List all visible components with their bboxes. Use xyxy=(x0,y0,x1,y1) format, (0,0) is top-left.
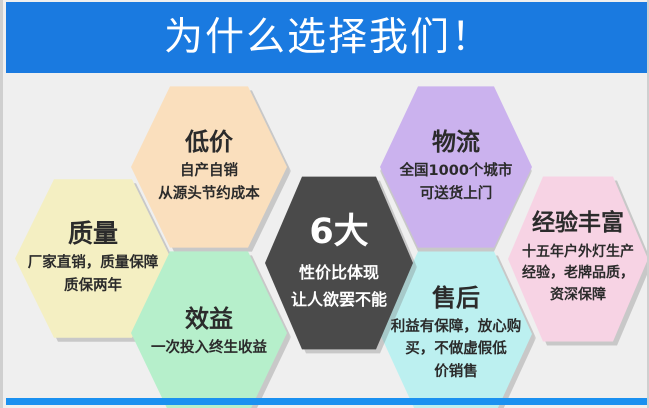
promo-graphic: 为什么选择我们！ 质量 厂家直销，质量保障 质保两年 低价 自产自销 从源头节约… xyxy=(0,0,649,408)
hexagon-grid: 质量 厂家直销，质量保障 质保两年 低价 自产自销 从源头节约成本 效益 一次投… xyxy=(3,73,649,398)
hexagon-logistics-body: 全国1000个城市 可送货上门 xyxy=(400,160,513,205)
hexagon-logistics: 物流 全国1000个城市 可送货上门 xyxy=(380,83,532,251)
hexagon-experience-body: 十五年户外灯生产 经验，老牌品质， 资深保障 xyxy=(522,242,634,307)
hexagon-low-price-body: 自产自销 从源头节约成本 xyxy=(158,160,260,205)
hexagon-quality-title: 质量 xyxy=(68,220,118,248)
hexagon-after-sale-body: 利益有保障，放心购 买，不做虚假低 价销售 xyxy=(391,316,522,383)
hexagon-quality-body: 厂家直销，质量保障 质保两年 xyxy=(28,252,159,297)
header-banner: 为什么选择我们！ xyxy=(6,2,649,73)
hexagon-benefit-title: 效益 xyxy=(185,306,233,332)
hexagon-logistics-title: 物流 xyxy=(432,129,480,155)
page-title: 为什么选择我们！ xyxy=(164,18,492,57)
footer-bar xyxy=(6,398,649,405)
hexagon-after-sale-title: 售后 xyxy=(432,285,480,311)
hexagon-center-body: 性价比体现 让人欲罢不能 xyxy=(291,259,387,313)
hexagon-experience-title: 经验丰富 xyxy=(532,211,624,236)
hexagon-benefit-body: 一次投入终生收益 xyxy=(151,337,267,359)
hexagon-center-title: 6大 xyxy=(309,213,368,252)
hexagon-low-price-title: 低价 xyxy=(185,129,233,155)
